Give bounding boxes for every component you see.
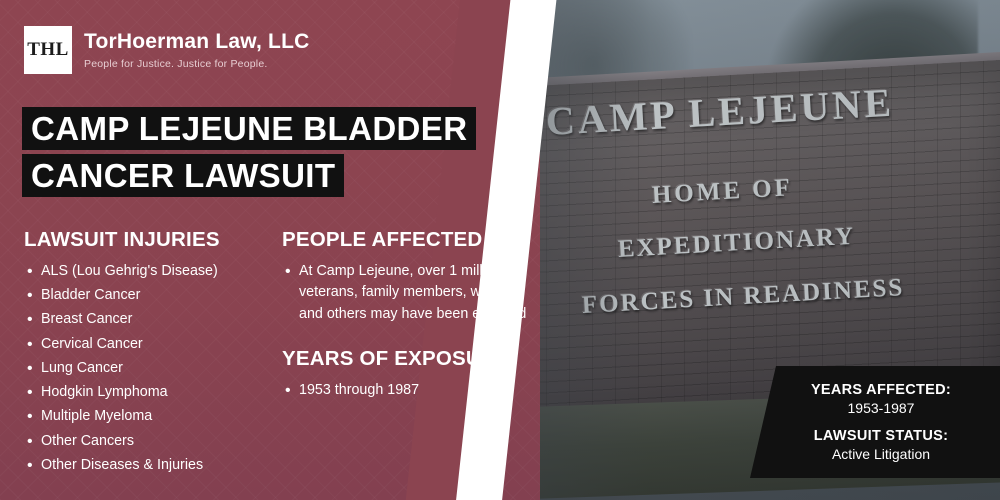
people-affected-list: At Camp Lejeune, over 1 million veterans… bbox=[282, 261, 527, 325]
lawsuit-status-label: LAWSUIT STATUS: bbox=[776, 428, 986, 444]
list-item: ALS (Lou Gehrig's Disease) bbox=[24, 261, 279, 283]
lawsuit-injuries-title: LAWSUIT INJURIES bbox=[24, 228, 279, 252]
people-affected-section: PEOPLE AFFECTED At Camp Lejeune, over 1 … bbox=[282, 228, 527, 404]
logo-text-block: TorHoerman Law, LLC People for Justice. … bbox=[84, 30, 309, 69]
headline-line-2: CANCER LAWSUIT bbox=[22, 154, 344, 197]
lawsuit-injuries-section: LAWSUIT INJURIES ALS (Lou Gehrig's Disea… bbox=[24, 228, 279, 479]
people-affected-title: PEOPLE AFFECTED bbox=[282, 228, 527, 252]
list-item: At Camp Lejeune, over 1 million veterans… bbox=[282, 261, 527, 325]
list-item: Bladder Cancer bbox=[24, 285, 279, 307]
list-item: Hodgkin Lymphoma bbox=[24, 382, 279, 404]
headline-line-1: CAMP LEJEUNE BLADDER bbox=[22, 107, 476, 150]
years-affected-label: YEARS AFFECTED: bbox=[776, 382, 986, 398]
years-of-exposure-list: 1953 through 1987 bbox=[282, 380, 527, 401]
status-badge: YEARS AFFECTED: 1953-1987 LAWSUIT STATUS… bbox=[750, 366, 1000, 478]
list-item: Other Cancers bbox=[24, 431, 279, 453]
list-item: 1953 through 1987 bbox=[282, 380, 527, 401]
list-item: Cervical Cancer bbox=[24, 334, 279, 356]
years-affected-value: 1953-1987 bbox=[776, 400, 986, 416]
list-item: Multiple Myeloma bbox=[24, 406, 279, 428]
logo-mark-icon: THL bbox=[24, 26, 72, 74]
list-item: Breast Cancer bbox=[24, 309, 279, 331]
list-item: Lung Cancer bbox=[24, 358, 279, 380]
lawsuit-injuries-list: ALS (Lou Gehrig's Disease) Bladder Cance… bbox=[24, 261, 279, 476]
logo[interactable]: THL TorHoerman Law, LLC People for Justi… bbox=[24, 26, 309, 74]
list-item: Other Diseases & Injuries bbox=[24, 455, 279, 477]
page-title: CAMP LEJEUNE BLADDER CANCER LAWSUIT bbox=[22, 106, 476, 200]
infographic-banner: CAMP LEJEUNE HOME OF EXPEDITIONARY FORCE… bbox=[0, 0, 1000, 500]
brand-tagline: People for Justice. Justice for People. bbox=[84, 58, 309, 70]
lawsuit-status-value: Active Litigation bbox=[776, 446, 986, 462]
brand-name: TorHoerman Law, LLC bbox=[84, 30, 309, 53]
info-box-gap bbox=[776, 416, 986, 428]
years-of-exposure-title: YEARS OF EXPOSURE bbox=[282, 347, 527, 371]
